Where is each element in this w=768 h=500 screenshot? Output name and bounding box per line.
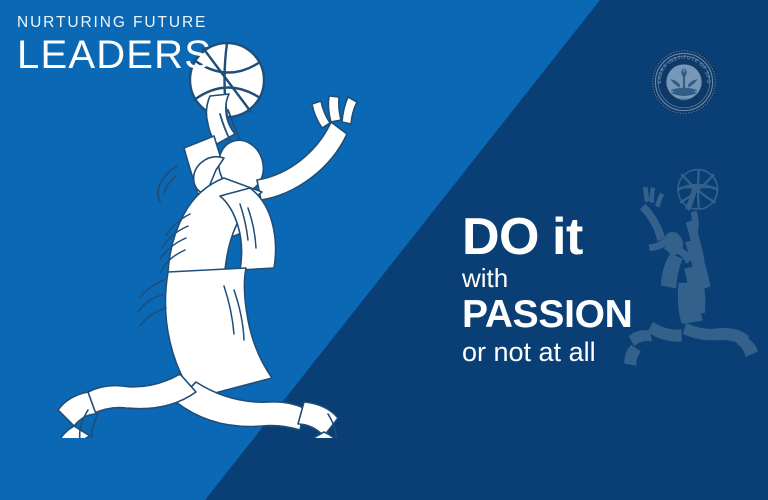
headline-block: NURTURING FUTURE LEADERS	[17, 14, 212, 76]
slogan-word-do: DO	[462, 208, 539, 266]
slogan-line-or-not-at-all: or not at all	[462, 337, 633, 367]
slogan-word-it: it	[552, 208, 583, 266]
headline-line-1: NURTURING FUTURE	[17, 14, 212, 31]
institute-seal-logo: RAJENDRA INSTITUTE OF SPORTS EST	[650, 48, 718, 116]
slogan-line-do: DOit	[462, 213, 633, 262]
main-player-silhouette	[28, 18, 358, 438]
slogan-line-passion: PASSION	[462, 295, 633, 334]
slogan-line-with: with	[462, 264, 633, 293]
svg-text:EST: EST	[680, 98, 689, 102]
seal-inner-text: EST	[680, 98, 689, 102]
poster-canvas: NURTURING FUTURE LEADERS DOit with PASSI…	[0, 0, 768, 500]
slogan-block: DOit with PASSION or not at all	[462, 213, 633, 367]
headline-line-2: LEADERS	[17, 34, 212, 76]
